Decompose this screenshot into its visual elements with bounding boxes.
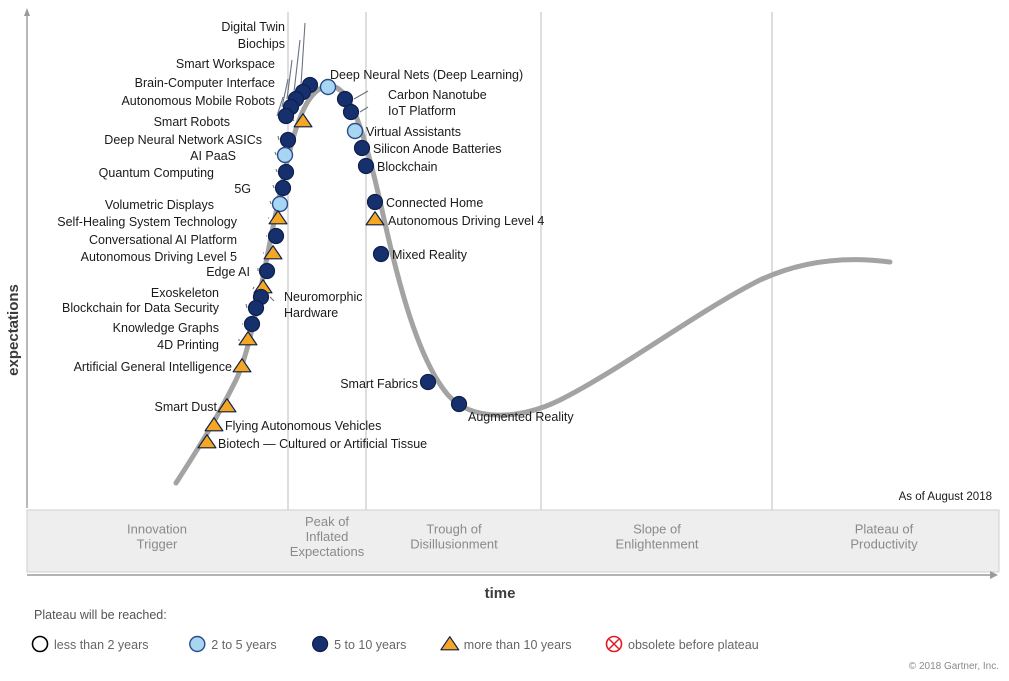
point-label-carbon-nanotube: Carbon Nanotube xyxy=(388,88,487,102)
legend-marker-obsolete-before-plateau[interactable] xyxy=(607,637,622,652)
legend-item-2-to-5-years[interactable]: 2 to 5 years xyxy=(190,637,277,653)
marker-conversational-ai-platform[interactable] xyxy=(269,229,284,244)
legend-item-5-to-10-years[interactable]: 5 to 10 years xyxy=(313,637,407,653)
point-label-artificial-general-intelligence: Artificial General Intelligence xyxy=(74,360,232,374)
point-label-digital-twin: Digital Twin xyxy=(221,20,285,34)
legend-item-less-than-2-years[interactable]: less than 2 years xyxy=(33,637,149,653)
marker-virtual-assistants[interactable] xyxy=(348,124,363,139)
point-label-smart-workspace: Smart Workspace xyxy=(176,57,275,71)
leader-line-volumetric-displays xyxy=(270,201,271,204)
as-of-date: As of August 2018 xyxy=(899,491,992,503)
marker-artificial-general-intelligence[interactable] xyxy=(233,359,251,372)
point-label-ai-paas: AI PaaS xyxy=(190,149,236,163)
legend-marker-less-than-2-years[interactable] xyxy=(33,637,48,652)
leader-line-neuromorphic-hardware xyxy=(270,297,274,301)
marker-quantum-computing[interactable] xyxy=(279,165,294,180)
point-label-5g: 5G xyxy=(234,182,251,196)
legend-label-5-to-10-years: 5 to 10 years xyxy=(334,638,406,652)
hype-cycle-chart: expectations InnovationTriggerPeak ofInf… xyxy=(0,0,1009,681)
point-label-deep-neural-nets-deep-learning: Deep Neural Nets (Deep Learning) xyxy=(330,68,523,82)
legend-label-obsolete-before-plateau: obsolete before plateau xyxy=(628,638,759,652)
point-label-smart-robots: Smart Robots xyxy=(154,115,230,129)
marker-self-healing-system-technology[interactable] xyxy=(269,211,287,224)
leader-line-5g xyxy=(273,185,274,188)
x-axis-title: time xyxy=(485,585,516,602)
legend-marker-more-than-10-years[interactable] xyxy=(441,637,459,650)
point-label-autonomous-mobile-robots: Autonomous Mobile Robots xyxy=(121,94,275,108)
phase-divider-lines xyxy=(288,12,772,510)
phase-band: InnovationTriggerPeak ofInflatedExpectat… xyxy=(27,510,999,572)
point-label-autonomous-driving-level-4: Autonomous Driving Level 4 xyxy=(388,214,544,228)
point-label-autonomous-driving-level-5: Autonomous Driving Level 5 xyxy=(81,250,237,264)
leader-line-biochips xyxy=(294,40,300,92)
legend-title: Plateau will be reached: xyxy=(34,608,167,622)
marker-mixed-reality[interactable] xyxy=(374,247,389,262)
legend-label-less-than-2-years: less than 2 years xyxy=(54,638,149,652)
point-label-brain-computer-interface: Brain-Computer Interface xyxy=(135,76,275,90)
point-label-quantum-computing: Quantum Computing xyxy=(99,166,214,180)
marker-ai-paas[interactable] xyxy=(278,148,293,163)
point-label-4d-printing: 4D Printing xyxy=(157,338,219,352)
legend-label-more-than-10-years: more than 10 years xyxy=(464,638,572,652)
copyright-note: © 2018 Gartner, Inc. xyxy=(909,661,999,672)
marker-iot-platform[interactable] xyxy=(344,105,359,120)
marker-4d-printing[interactable] xyxy=(239,332,257,345)
point-label-virtual-assistants: Virtual Assistants xyxy=(366,125,461,139)
x-axis: time xyxy=(27,571,998,602)
y-axis: expectations xyxy=(5,8,30,508)
point-label-exoskeleton: Exoskeleton xyxy=(151,286,219,300)
point-label-knowledge-graphs: Knowledge Graphs xyxy=(113,321,219,335)
point-label-augmented-reality: Augmented Reality xyxy=(468,410,574,424)
marker-blockchain[interactable] xyxy=(359,159,374,174)
marker-volumetric-displays[interactable] xyxy=(273,197,288,212)
marker-silicon-anode-batteries[interactable] xyxy=(355,141,370,156)
leader-line-deep-neural-network-asics xyxy=(278,136,279,140)
point-label-mixed-reality: Mixed Reality xyxy=(392,248,468,262)
point-label-connected-home: Connected Home xyxy=(386,196,483,210)
point-label-edge-ai: Edge AI xyxy=(206,265,250,279)
point-label-biochips: Biochips xyxy=(238,37,285,51)
marker-smart-fabrics[interactable] xyxy=(421,375,436,390)
point-label-self-healing-system-technology: Self-Healing System Technology xyxy=(57,215,237,229)
legend-label-2-to-5-years: 2 to 5 years xyxy=(211,638,276,652)
point-label-iot-platform: IoT Platform xyxy=(388,104,456,118)
marker-deep-neural-network-asics[interactable] xyxy=(281,133,296,148)
legend: less than 2 years2 to 5 years5 to 10 yea… xyxy=(33,637,759,653)
leader-line-iot-platform xyxy=(360,107,368,112)
marker-5g[interactable] xyxy=(276,181,291,196)
marker-flying-autonomous-vehicles[interactable] xyxy=(205,418,223,431)
marker-knowledge-graphs[interactable] xyxy=(245,317,260,332)
chart-canvas: expectations InnovationTriggerPeak ofInf… xyxy=(0,0,1009,681)
leader-line-exoskeleton xyxy=(253,287,254,289)
point-label-silicon-anode-batteries: Silicon Anode Batteries xyxy=(373,142,502,156)
point-label-conversational-ai-platform: Conversational AI Platform xyxy=(89,233,237,247)
leader-line-blockchain-for-data-security xyxy=(246,304,247,308)
marker-autonomous-mobile-robots[interactable] xyxy=(279,109,294,124)
y-axis-title: expectations xyxy=(5,284,22,376)
legend-marker-5-to-10-years[interactable] xyxy=(313,637,328,652)
marker-blockchain-for-data-security[interactable] xyxy=(249,301,264,316)
phase-label-5: Plateau ofProductivity xyxy=(850,522,918,552)
legend-item-obsolete-before-plateau[interactable]: obsolete before plateau xyxy=(607,637,759,653)
legend-marker-2-to-5-years[interactable] xyxy=(190,637,205,652)
leader-line-quantum-computing xyxy=(276,169,277,172)
point-label-neuromorphic-hardware: NeuromorphicHardware xyxy=(284,290,363,320)
point-label-deep-neural-network-asics: Deep Neural Network ASICs xyxy=(104,133,262,147)
marker-augmented-reality[interactable] xyxy=(452,397,467,412)
marker-edge-ai[interactable] xyxy=(260,264,275,279)
point-label-smart-fabrics: Smart Fabrics xyxy=(340,377,418,391)
leader-line-digital-twin xyxy=(301,23,305,85)
point-label-blockchain-for-data-security: Blockchain for Data Security xyxy=(62,301,220,315)
legend-item-more-than-10-years[interactable]: more than 10 years xyxy=(441,637,572,652)
marker-connected-home[interactable] xyxy=(368,195,383,210)
point-label-blockchain: Blockchain xyxy=(377,160,437,174)
point-label-flying-autonomous-vehicles: Flying Autonomous Vehicles xyxy=(225,419,381,433)
point-label-volumetric-displays: Volumetric Displays xyxy=(105,198,214,212)
leader-line-ai-paas xyxy=(275,152,276,155)
point-label-smart-dust: Smart Dust xyxy=(154,400,217,414)
point-label-biotech-cultured-or-artificial-tissue: Biotech — Cultured or Artificial Tissue xyxy=(218,437,427,451)
